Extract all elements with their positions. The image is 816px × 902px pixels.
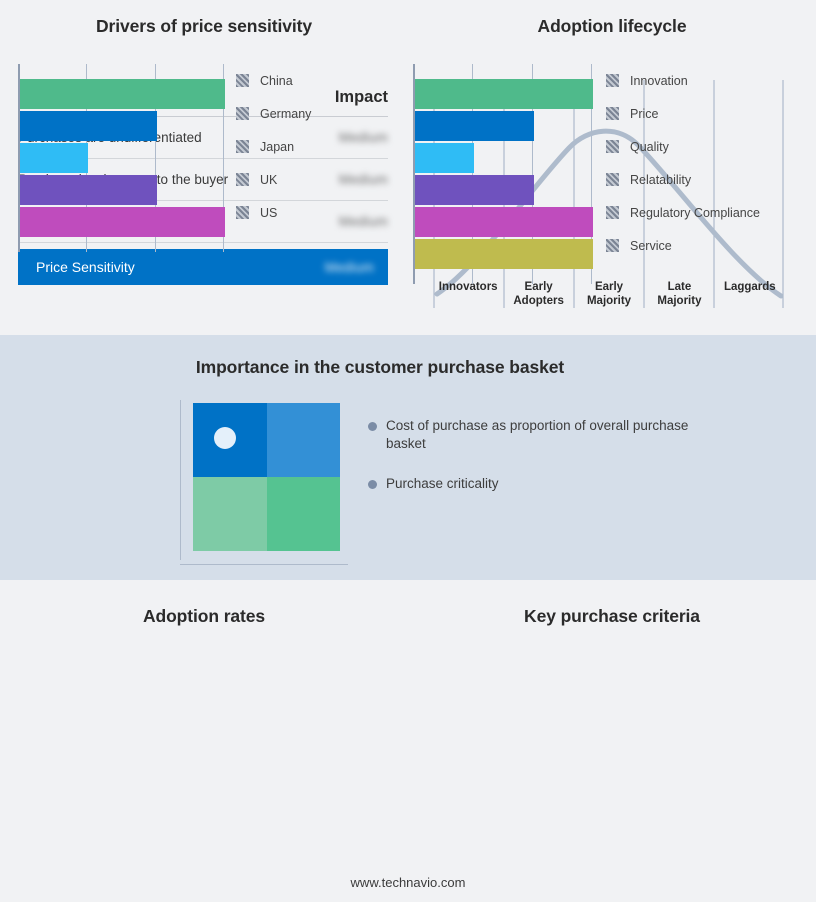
chart-bar xyxy=(415,79,593,109)
chart-bar-row xyxy=(413,206,591,238)
list-item: Purchase criticality xyxy=(368,475,698,493)
legend-item: Regulatory Compliance xyxy=(606,196,760,229)
legend-label: Regulatory Compliance xyxy=(630,206,760,220)
list-item: Cost of purchase as proportion of overal… xyxy=(368,417,698,453)
key-purchase-criteria-title: Key purchase criteria xyxy=(408,606,816,627)
legend-item: China xyxy=(236,64,311,97)
legend-label: Innovation xyxy=(630,74,688,88)
matrix-y-axis xyxy=(180,400,181,560)
chart-bar xyxy=(20,111,157,141)
legend-label: US xyxy=(260,206,277,220)
chart-bar-rows xyxy=(18,64,223,252)
hatched-square-icon xyxy=(606,140,619,153)
chart-bar-row xyxy=(18,78,223,110)
chart-bar-row xyxy=(413,78,591,110)
adoption-rates-title: Adoption rates xyxy=(0,606,408,627)
chart-bar xyxy=(415,239,593,269)
legend-label: Service xyxy=(630,239,672,253)
hatched-square-icon xyxy=(606,239,619,252)
purchase-basket-legend: Cost of purchase as proportion of overal… xyxy=(368,417,698,515)
legend-item: Innovation xyxy=(606,64,760,97)
impact-value: Medium xyxy=(339,214,388,229)
legend-label: Japan xyxy=(260,140,294,154)
legend-label: Relatability xyxy=(630,173,691,187)
hatched-square-icon xyxy=(236,140,249,153)
legend-label: UK xyxy=(260,173,277,187)
legend-label: Cost of purchase as proportion of overal… xyxy=(386,417,698,453)
impact-value: Medium xyxy=(325,260,374,275)
lifecycle-stage-labels: Innovators Early Adopters Early Majority… xyxy=(433,280,785,308)
legend-label: China xyxy=(260,74,293,88)
hatched-square-icon xyxy=(606,173,619,186)
adoption-rates-chart xyxy=(18,64,223,252)
legend-label: Price xyxy=(630,107,658,121)
chart-bar-row xyxy=(18,206,223,238)
legend-item: US xyxy=(236,196,311,229)
column-header-impact: Impact xyxy=(335,88,388,107)
matrix-x-axis xyxy=(180,564,348,565)
chart-bar xyxy=(415,207,593,237)
purchase-basket-panel: Importance in the customer purchase bask… xyxy=(0,335,816,580)
legend-item: UK xyxy=(236,163,311,196)
hatched-square-icon xyxy=(606,107,619,120)
footer-url: www.technavio.com xyxy=(0,875,816,890)
impact-value: Medium xyxy=(339,130,388,145)
chart-bar-row xyxy=(413,174,591,206)
adoption-rates-panel: Adoption rates xyxy=(0,580,408,902)
chart-bar xyxy=(20,143,88,173)
matrix-quadrant-bottom-right xyxy=(267,477,341,551)
chart-bar xyxy=(415,175,534,205)
chart-top-padding xyxy=(413,64,591,78)
lifecycle-stage-laggards: Laggards xyxy=(715,280,785,308)
legend-label: Purchase criticality xyxy=(386,475,499,493)
matrix-position-marker xyxy=(214,427,236,449)
hatched-square-icon xyxy=(236,74,249,87)
chart-bar-rows xyxy=(413,64,591,284)
chart-bar xyxy=(415,143,474,173)
hatched-square-icon xyxy=(606,74,619,87)
drivers-panel-title: Drivers of price sensitivity xyxy=(0,16,408,37)
legend-item: Relatability xyxy=(606,163,760,196)
legend-item: Service xyxy=(606,229,760,262)
matrix-quadrant-top-left xyxy=(193,403,267,477)
key-purchase-criteria-chart xyxy=(413,64,591,284)
legend-item: Germany xyxy=(236,97,311,130)
price-sensitivity-summary-row: Price Sensitivity Medium xyxy=(18,249,388,285)
key-purchase-criteria-legend: InnovationPriceQualityRelatabilityRegula… xyxy=(606,64,760,262)
infographic-page: Drivers of price sensitivity Driver Impa… xyxy=(0,0,816,902)
chart-bar xyxy=(20,79,225,109)
chart-bar-row xyxy=(18,110,223,142)
hatched-square-icon xyxy=(236,107,249,120)
purchase-basket-title: Importance in the customer purchase bask… xyxy=(0,357,760,378)
chart-bar-row xyxy=(413,142,591,174)
bullet-dot-icon xyxy=(368,480,377,489)
purchase-basket-matrix xyxy=(180,400,350,565)
chart-bar xyxy=(20,175,157,205)
bullet-dot-icon xyxy=(368,422,377,431)
key-purchase-criteria-panel: Key purchase criteria xyxy=(408,580,816,902)
legend-item: Price xyxy=(606,97,760,130)
adoption-rates-legend: ChinaGermanyJapanUKUS xyxy=(236,64,311,229)
lifecycle-stage-late-majority: Late Majority xyxy=(644,280,714,308)
chart-bar xyxy=(415,111,534,141)
lifecycle-stage-early-adopters: Early Adopters xyxy=(503,280,573,308)
legend-label: Germany xyxy=(260,107,311,121)
hatched-square-icon xyxy=(236,173,249,186)
chart-bottom-padding xyxy=(413,270,591,284)
chart-bar-row xyxy=(18,142,223,174)
chart-bottom-padding xyxy=(18,238,223,252)
chart-top-padding xyxy=(18,64,223,78)
legend-label: Quality xyxy=(630,140,669,154)
adoption-lifecycle-title: Adoption lifecycle xyxy=(408,16,816,37)
chart-bar-row xyxy=(413,238,591,270)
chart-bar-row xyxy=(18,174,223,206)
hatched-square-icon xyxy=(236,206,249,219)
legend-item: Quality xyxy=(606,130,760,163)
chart-bar xyxy=(20,207,225,237)
impact-value: Medium xyxy=(339,172,388,187)
matrix-quadrant-bottom-left xyxy=(193,477,267,551)
chart-bar-row xyxy=(413,110,591,142)
lifecycle-stage-early-majority: Early Majority xyxy=(574,280,644,308)
matrix-quadrant-top-right xyxy=(267,403,341,477)
lifecycle-stage-innovators: Innovators xyxy=(433,280,503,308)
driver-label: Price Sensitivity xyxy=(36,259,135,275)
legend-item: Japan xyxy=(236,130,311,163)
hatched-square-icon xyxy=(606,206,619,219)
